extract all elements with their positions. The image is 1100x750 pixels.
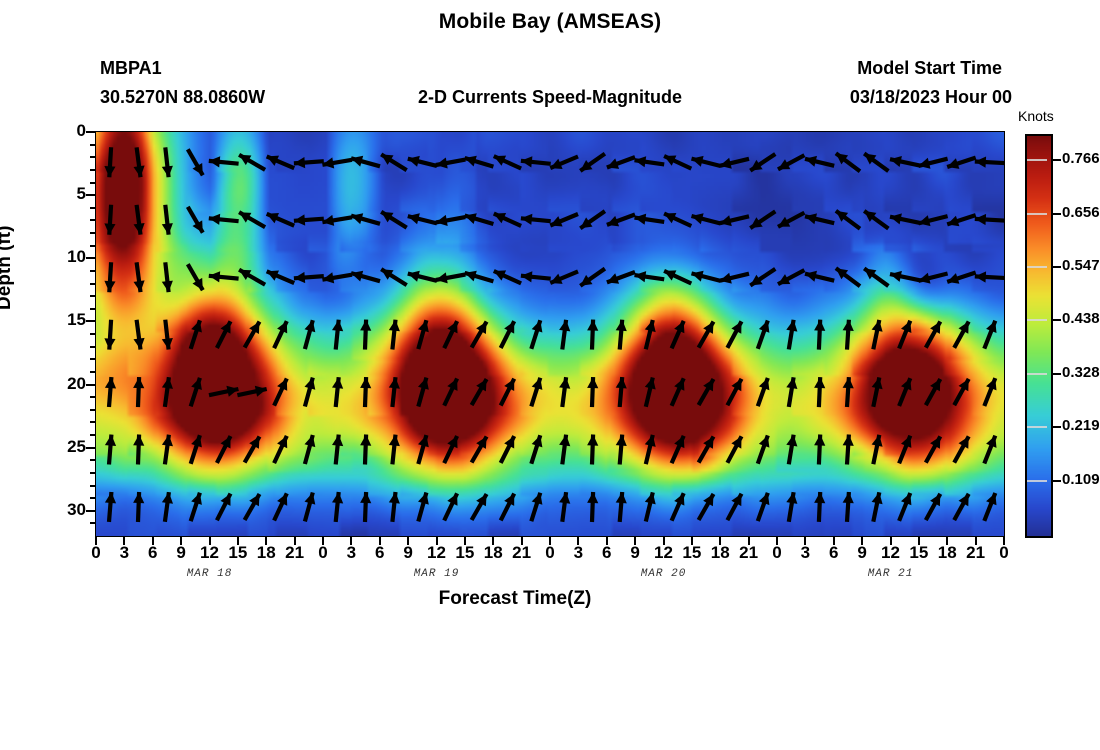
y-axis-minor-tick (90, 144, 96, 146)
colorbar-tick-label: 0.219 (1062, 417, 1100, 434)
x-axis-tick-mark (691, 537, 693, 545)
x-axis-day-label: MAR 19 (392, 568, 482, 580)
x-axis-tick-mark (152, 537, 154, 545)
x-axis-tick-mark (946, 537, 948, 545)
y-axis-minor-tick (90, 333, 96, 335)
y-axis-minor-tick (90, 472, 96, 474)
colorbar-tick-label: 0.109 (1062, 471, 1100, 488)
x-axis-tick-mark (918, 537, 920, 545)
x-axis-tick-label: 9 (393, 543, 423, 563)
x-axis-tick-mark (663, 537, 665, 545)
y-axis-minor-tick (90, 522, 96, 524)
y-axis-tick-mark (86, 194, 96, 196)
colorbar-inner-tick (1027, 426, 1047, 428)
x-axis-tick-mark (890, 537, 892, 545)
model-start-time-label: Model Start Time (857, 58, 1002, 79)
y-axis-minor-tick (90, 485, 96, 487)
x-axis-tick-label: 6 (138, 543, 168, 563)
colorbar-tick-mark (1051, 159, 1061, 161)
x-axis-tick-label: 18 (705, 543, 735, 563)
heatmap-plot-area (95, 131, 1005, 537)
x-axis-tick-mark (407, 537, 409, 545)
x-axis-tick-label: 12 (422, 543, 452, 563)
x-axis-tick-label: 6 (819, 543, 849, 563)
y-axis-minor-tick (90, 270, 96, 272)
x-axis-tick-mark (436, 537, 438, 545)
x-axis-tick-label: 18 (478, 543, 508, 563)
x-axis-day-label: MAR 21 (846, 568, 936, 580)
y-axis-tick-label: 25 (46, 437, 86, 457)
y-axis-tick-mark (86, 320, 96, 322)
x-axis-tick-mark (180, 537, 182, 545)
y-axis-minor-tick (90, 409, 96, 411)
x-axis-tick-label: 3 (109, 543, 139, 563)
y-axis-tick-label: 5 (46, 184, 86, 204)
y-axis-minor-tick (90, 497, 96, 499)
colorbar-tick-mark (1051, 373, 1061, 375)
x-axis-tick-label: 21 (961, 543, 991, 563)
y-axis-tick-mark (86, 510, 96, 512)
x-axis-tick-mark (464, 537, 466, 545)
x-axis-tick-label: 3 (336, 543, 366, 563)
x-axis-tick-label: 15 (677, 543, 707, 563)
y-axis-label: Depth (ft) (0, 226, 16, 310)
x-axis-tick-mark (209, 537, 211, 545)
y-axis-tick-mark (86, 257, 96, 259)
x-axis-tick-mark (237, 537, 239, 545)
y-axis-tick-label: 30 (46, 500, 86, 520)
colorbar-inner-tick (1027, 373, 1047, 375)
y-axis-minor-tick (90, 245, 96, 247)
x-axis-tick-mark (804, 537, 806, 545)
colorbar-tick-mark (1051, 213, 1061, 215)
x-axis-tick-mark (748, 537, 750, 545)
y-axis-tick-label: 20 (46, 374, 86, 394)
x-axis-tick-label: 0 (535, 543, 565, 563)
colorbar-tick-mark (1051, 319, 1061, 321)
y-axis-minor-tick (90, 308, 96, 310)
x-axis-tick-label: 15 (450, 543, 480, 563)
y-axis-minor-tick (90, 207, 96, 209)
x-axis-tick-label: 21 (507, 543, 537, 563)
y-axis-minor-tick (90, 371, 96, 373)
y-axis-tick-mark (86, 384, 96, 386)
x-axis-tick-mark (521, 537, 523, 545)
colorbar-inner-tick (1027, 480, 1047, 482)
y-axis-minor-tick (90, 421, 96, 423)
x-axis-tick-mark (719, 537, 721, 545)
x-axis-tick-mark (861, 537, 863, 545)
x-axis-tick-mark (975, 537, 977, 545)
x-axis-tick-mark (322, 537, 324, 545)
x-axis-tick-label: 18 (251, 543, 281, 563)
x-axis-tick-label: 9 (847, 543, 877, 563)
x-axis-tick-label: 21 (734, 543, 764, 563)
x-axis-tick-label: 21 (280, 543, 310, 563)
y-axis-minor-tick (90, 358, 96, 360)
x-axis-tick-mark (379, 537, 381, 545)
x-axis-tick-label: 9 (166, 543, 196, 563)
colorbar-inner-tick (1027, 159, 1047, 161)
x-axis-tick-label: 0 (989, 543, 1019, 563)
x-axis-tick-mark (549, 537, 551, 545)
colorbar-tick-label: 0.766 (1062, 150, 1100, 167)
x-axis-tick-label: 12 (649, 543, 679, 563)
model-start-time-value: 03/18/2023 Hour 00 (850, 87, 1012, 108)
y-axis-minor-tick (90, 434, 96, 436)
y-axis-tick-label: 0 (46, 121, 86, 141)
x-axis-tick-mark (350, 537, 352, 545)
page-title: Mobile Bay (AMSEAS) (0, 10, 1100, 34)
x-axis-tick-mark (634, 537, 636, 545)
y-axis-minor-tick (90, 219, 96, 221)
x-axis-tick-label: 6 (365, 543, 395, 563)
y-axis-minor-tick (90, 346, 96, 348)
colorbar-tick-mark (1051, 426, 1061, 428)
x-axis-tick-mark (833, 537, 835, 545)
x-axis-tick-label: 0 (308, 543, 338, 563)
x-axis-tick-label: 0 (81, 543, 111, 563)
x-axis-tick-mark (95, 537, 97, 545)
x-axis-tick-label: 0 (762, 543, 792, 563)
y-axis-tick-label: 15 (46, 310, 86, 330)
colorbar-tick-label: 0.547 (1062, 257, 1100, 274)
y-axis-minor-tick (90, 396, 96, 398)
x-axis-day-label: MAR 18 (165, 568, 255, 580)
y-axis-minor-tick (90, 295, 96, 297)
y-axis-minor-tick (90, 459, 96, 461)
colorbar-tick-mark (1051, 480, 1061, 482)
colorbar-inner-tick (1027, 266, 1047, 268)
x-axis-tick-label: 3 (790, 543, 820, 563)
colorbar-tick-label: 0.328 (1062, 364, 1100, 381)
speed-magnitude-heatmap (96, 132, 1004, 536)
x-axis-tick-mark (123, 537, 125, 545)
x-axis-tick-label: 15 (904, 543, 934, 563)
x-axis-tick-label: 15 (223, 543, 253, 563)
x-axis-tick-label: 9 (620, 543, 650, 563)
x-axis-tick-mark (776, 537, 778, 545)
colorbar-tick-label: 0.656 (1062, 204, 1100, 221)
y-axis-minor-tick (90, 283, 96, 285)
colorbar-units-label: Knots (1018, 108, 1054, 124)
x-axis-tick-label: 12 (876, 543, 906, 563)
x-axis-tick-label: 18 (932, 543, 962, 563)
colorbar-inner-tick (1027, 319, 1047, 321)
y-axis-tick-mark (86, 131, 96, 133)
x-axis-tick-mark (265, 537, 267, 545)
colorbar (1025, 134, 1053, 538)
y-axis-minor-tick (90, 182, 96, 184)
x-axis-day-label: MAR 20 (619, 568, 709, 580)
y-axis-minor-tick (90, 156, 96, 158)
x-axis-tick-mark (1003, 537, 1005, 545)
x-axis-tick-mark (577, 537, 579, 545)
x-axis-label: Forecast Time(Z) (0, 588, 1030, 610)
x-axis-tick-label: 12 (195, 543, 225, 563)
x-axis-tick-mark (294, 537, 296, 545)
y-axis-minor-tick (90, 232, 96, 234)
colorbar-gradient (1027, 136, 1051, 536)
colorbar-tick-mark (1051, 266, 1061, 268)
x-axis-tick-mark (606, 537, 608, 545)
x-axis-tick-label: 6 (592, 543, 622, 563)
colorbar-inner-tick (1027, 213, 1047, 215)
station-id: MBPA1 (100, 58, 162, 79)
x-axis-tick-mark (492, 537, 494, 545)
colorbar-tick-label: 0.438 (1062, 310, 1100, 327)
x-axis-tick-label: 3 (563, 543, 593, 563)
y-axis-tick-label: 10 (46, 247, 86, 267)
y-axis-minor-tick (90, 169, 96, 171)
y-axis-tick-mark (86, 447, 96, 449)
